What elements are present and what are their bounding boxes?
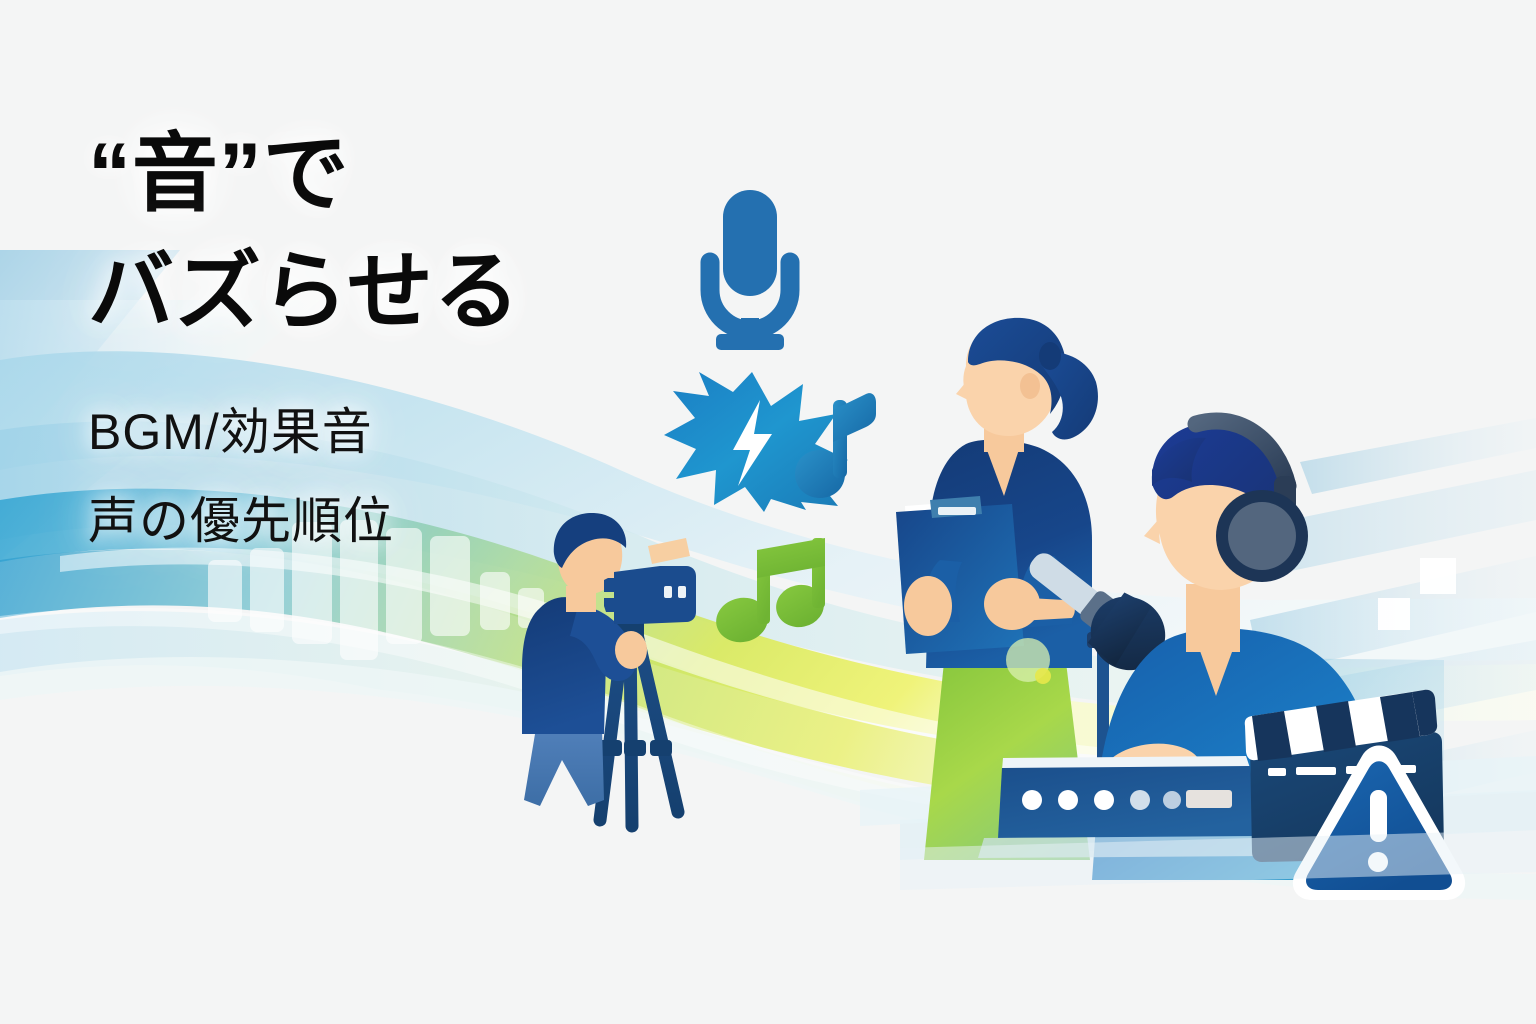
subtitle-line-1: BGM/効果音	[88, 395, 548, 470]
mic-glow-dot	[1035, 668, 1051, 684]
haze-band	[900, 830, 1536, 890]
hero-text-block: “音”で バズらせる BGM/効果音 声の優先順位	[88, 118, 548, 559]
hero-banner: “音”で バズらせる BGM/効果音 声の優先順位	[0, 0, 1536, 1024]
subtitle-line-2: 声の優先順位	[88, 484, 548, 559]
headline-line-2: バズらせる	[88, 236, 548, 350]
headline-line-1: “音”で	[88, 118, 548, 232]
